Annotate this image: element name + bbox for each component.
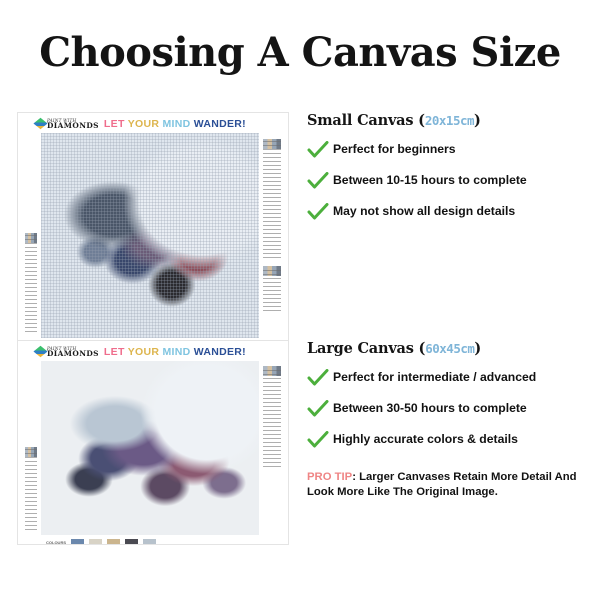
list-item: May not show all design details <box>307 204 600 220</box>
check-icon <box>307 431 333 448</box>
large-canvas-artwork-wrap <box>23 361 283 535</box>
large-canvas-heading-suffix: ) <box>474 340 481 357</box>
small-canvas-dimensions: 20x15cm <box>425 113 474 128</box>
tagline-word-mind: MIND <box>162 346 190 358</box>
check-icon <box>307 203 333 220</box>
brand-tagline-small: LET YOUR MIND WANDER! <box>104 118 246 130</box>
check-icon <box>307 400 333 417</box>
small-canvas-text-column: Small Canvas (20x15cm) Perfect for begin… <box>295 112 600 354</box>
color-key-rows <box>25 449 37 530</box>
diamond-icon <box>33 346 47 357</box>
large-canvas-image-column: PAINT WITH DIAMONDS LET YOUR MIND WANDER… <box>0 340 295 545</box>
list-item: Between 30-50 hours to complete <box>307 401 600 417</box>
large-canvas-text-column: Large Canvas (60x45cm) Perfect for inter… <box>295 340 600 545</box>
tagline-word-mind: MIND <box>162 118 190 130</box>
color-key-rows <box>263 141 281 258</box>
pro-tip-label: PRO TIP <box>307 471 352 483</box>
section-small-canvas: PAINT WITH DIAMONDS LET YOUR MIND WANDER… <box>0 112 600 354</box>
large-canvas-heading: Large Canvas (60x45cm) <box>307 340 600 357</box>
color-key-rows <box>25 235 37 332</box>
large-canvas-artwork-detailed <box>41 361 259 535</box>
small-canvas-product-card[interactable]: PAINT WITH DIAMONDS LET YOUR MIND WANDER… <box>17 112 289 354</box>
tagline-word-wander: WANDER! <box>194 118 246 130</box>
brand-header-small: PAINT WITH DIAMONDS LET YOUR MIND WANDER… <box>18 113 288 133</box>
list-item: Between 10-15 hours to complete <box>307 173 600 189</box>
logo-diamonds-text: DIAMONDS <box>47 351 99 358</box>
palette-label: COLOURS <box>46 541 66 545</box>
bullet-label: May not show all design details <box>333 204 515 218</box>
bullet-label: Between 10-15 hours to complete <box>333 173 527 187</box>
paint-with-diamonds-logo: PAINT WITH DIAMONDS <box>36 119 99 130</box>
color-key-left-large <box>23 445 39 532</box>
diamond-icon <box>33 118 47 129</box>
bullet-label: Highly accurate colors & details <box>333 432 518 446</box>
palette-chip <box>143 539 156 546</box>
tagline-word-wander: WANDER! <box>194 346 246 358</box>
brand-header-large: PAINT WITH DIAMONDS LET YOUR MIND WANDER… <box>18 341 288 361</box>
list-item: Perfect for intermediate / advanced <box>307 370 600 386</box>
small-canvas-heading-prefix: Small Canvas ( <box>307 112 425 129</box>
color-key-left-small <box>23 231 39 334</box>
list-item: Perfect for beginners <box>307 142 600 158</box>
check-icon <box>307 172 333 189</box>
large-canvas-product-card[interactable]: PAINT WITH DIAMONDS LET YOUR MIND WANDER… <box>17 340 289 545</box>
logo-diamonds-text: DIAMONDS <box>47 123 99 130</box>
list-item: Highly accurate colors & details <box>307 432 600 448</box>
color-key-right-large <box>261 364 283 468</box>
bullet-label: Between 30-50 hours to complete <box>333 401 527 415</box>
small-canvas-heading-suffix: ) <box>474 112 481 129</box>
tagline-word-let: LET <box>104 346 125 358</box>
check-icon <box>307 369 333 386</box>
color-palette-bar: COLOURS <box>42 535 264 545</box>
large-canvas-heading-prefix: Large Canvas ( <box>307 340 425 357</box>
large-canvas-dimensions: 60x45cm <box>425 341 474 356</box>
color-key-rows <box>263 268 281 311</box>
tagline-word-your: YOUR <box>128 118 160 130</box>
palette-chip <box>71 539 84 546</box>
palette-chip <box>125 539 138 546</box>
paint-with-diamonds-logo: PAINT WITH DIAMONDS <box>36 347 99 358</box>
brand-tagline-large: LET YOUR MIND WANDER! <box>104 346 246 358</box>
palette-chip <box>89 539 102 546</box>
color-key-right-small <box>261 137 283 260</box>
bullet-label: Perfect for intermediate / advanced <box>333 370 536 384</box>
section-large-canvas: PAINT WITH DIAMONDS LET YOUR MIND WANDER… <box>0 340 600 545</box>
color-key-right-lower-small <box>261 264 283 313</box>
pro-tip: PRO TIP: Larger Canvases Retain More Det… <box>307 470 587 499</box>
check-icon <box>307 141 333 158</box>
bullet-label: Perfect for beginners <box>333 142 456 156</box>
small-canvas-heading: Small Canvas (20x15cm) <box>307 112 600 129</box>
small-canvas-artwork-wrap <box>23 133 283 338</box>
palette-chip <box>107 539 120 546</box>
small-canvas-image-column: PAINT WITH DIAMONDS LET YOUR MIND WANDER… <box>0 112 295 354</box>
tagline-word-your: YOUR <box>128 346 160 358</box>
color-key-rows <box>263 368 281 466</box>
page-title: Choosing A Canvas Size <box>0 0 600 73</box>
small-canvas-artwork-pixelated <box>41 133 259 338</box>
tagline-word-let: LET <box>104 118 125 130</box>
